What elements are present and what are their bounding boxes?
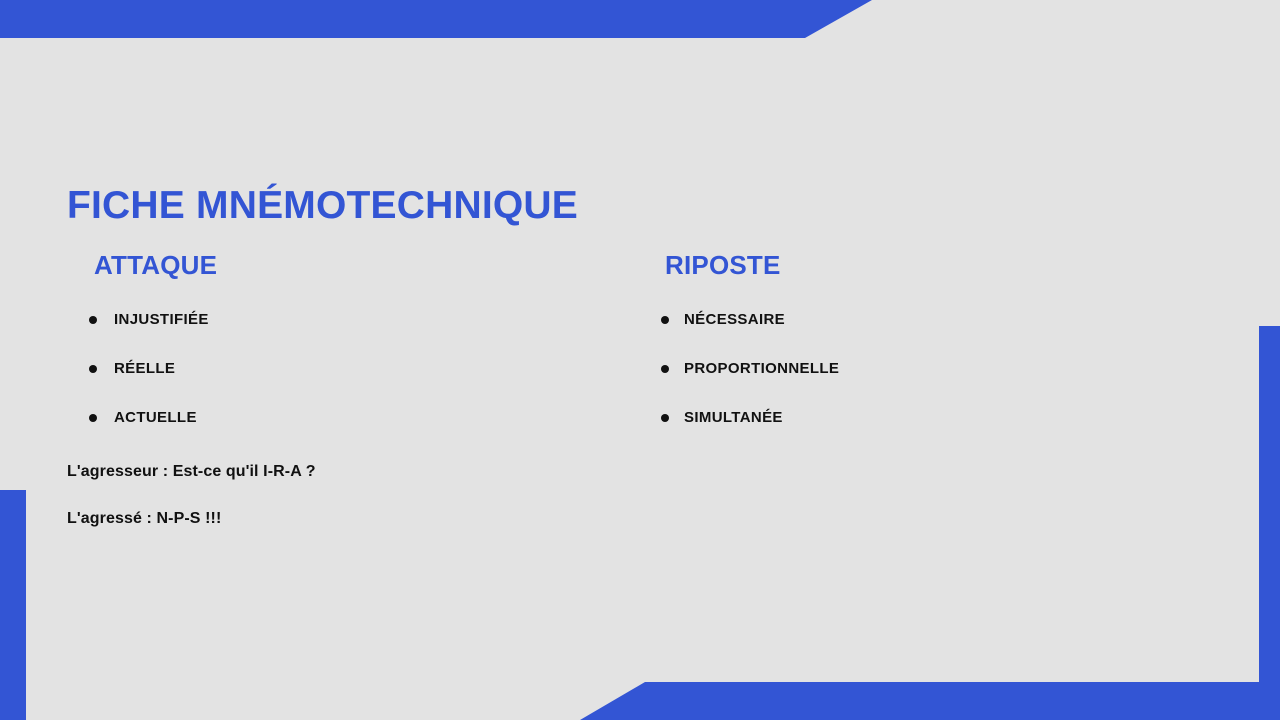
bullet-dot-icon [661, 414, 669, 422]
list-item: ACTUELLE [67, 409, 627, 427]
list-item-label: ACTUELLE [114, 409, 197, 426]
bullet-dot-icon [89, 365, 97, 373]
slide-canvas: FICHE MNÉMOTECHNIQUE ATTAQUE INJUSTIFIÉE… [0, 0, 1280, 720]
footnotes-container: L'agresseur : Est-ce qu'il I-R-A ? L'agr… [67, 463, 687, 528]
bullet-list-attaque: INJUSTIFIÉE RÉELLE ACTUELLE [67, 311, 627, 427]
bullet-dot-icon [89, 414, 97, 422]
page-title: FICHE MNÉMOTECHNIQUE [67, 184, 578, 228]
column-heading-riposte: RIPOSTE [640, 250, 1200, 281]
footnote-victim: L'agressé : N-P-S !!! [67, 510, 687, 528]
list-item: INJUSTIFIÉE [67, 311, 627, 329]
list-item-label: RÉELLE [114, 360, 175, 377]
bullet-dot-icon [661, 365, 669, 373]
list-item: NÉCESSAIRE [640, 311, 1200, 329]
column-attaque: ATTAQUE INJUSTIFIÉE RÉELLE ACTUELLE [67, 250, 627, 458]
list-item: SIMULTANÉE [640, 409, 1200, 427]
list-item-label: PROPORTIONNELLE [684, 360, 839, 377]
list-item: RÉELLE [67, 360, 627, 378]
column-heading-attaque: ATTAQUE [67, 250, 627, 281]
bullet-dot-icon [661, 316, 669, 324]
bullet-list-riposte: NÉCESSAIRE PROPORTIONNELLE SIMULTANÉE [640, 311, 1200, 427]
list-item-label: SIMULTANÉE [684, 409, 783, 426]
footnote-aggressor: L'agresseur : Est-ce qu'il I-R-A ? [67, 463, 687, 481]
list-item-label: INJUSTIFIÉE [114, 311, 209, 328]
bullet-dot-icon [89, 316, 97, 324]
list-item: PROPORTIONNELLE [640, 360, 1200, 378]
list-item-label: NÉCESSAIRE [684, 311, 785, 328]
column-riposte: RIPOSTE NÉCESSAIRE PROPORTIONNELLE SIMUL… [640, 250, 1200, 458]
slide-content: FICHE MNÉMOTECHNIQUE ATTAQUE INJUSTIFIÉE… [0, 0, 1280, 720]
